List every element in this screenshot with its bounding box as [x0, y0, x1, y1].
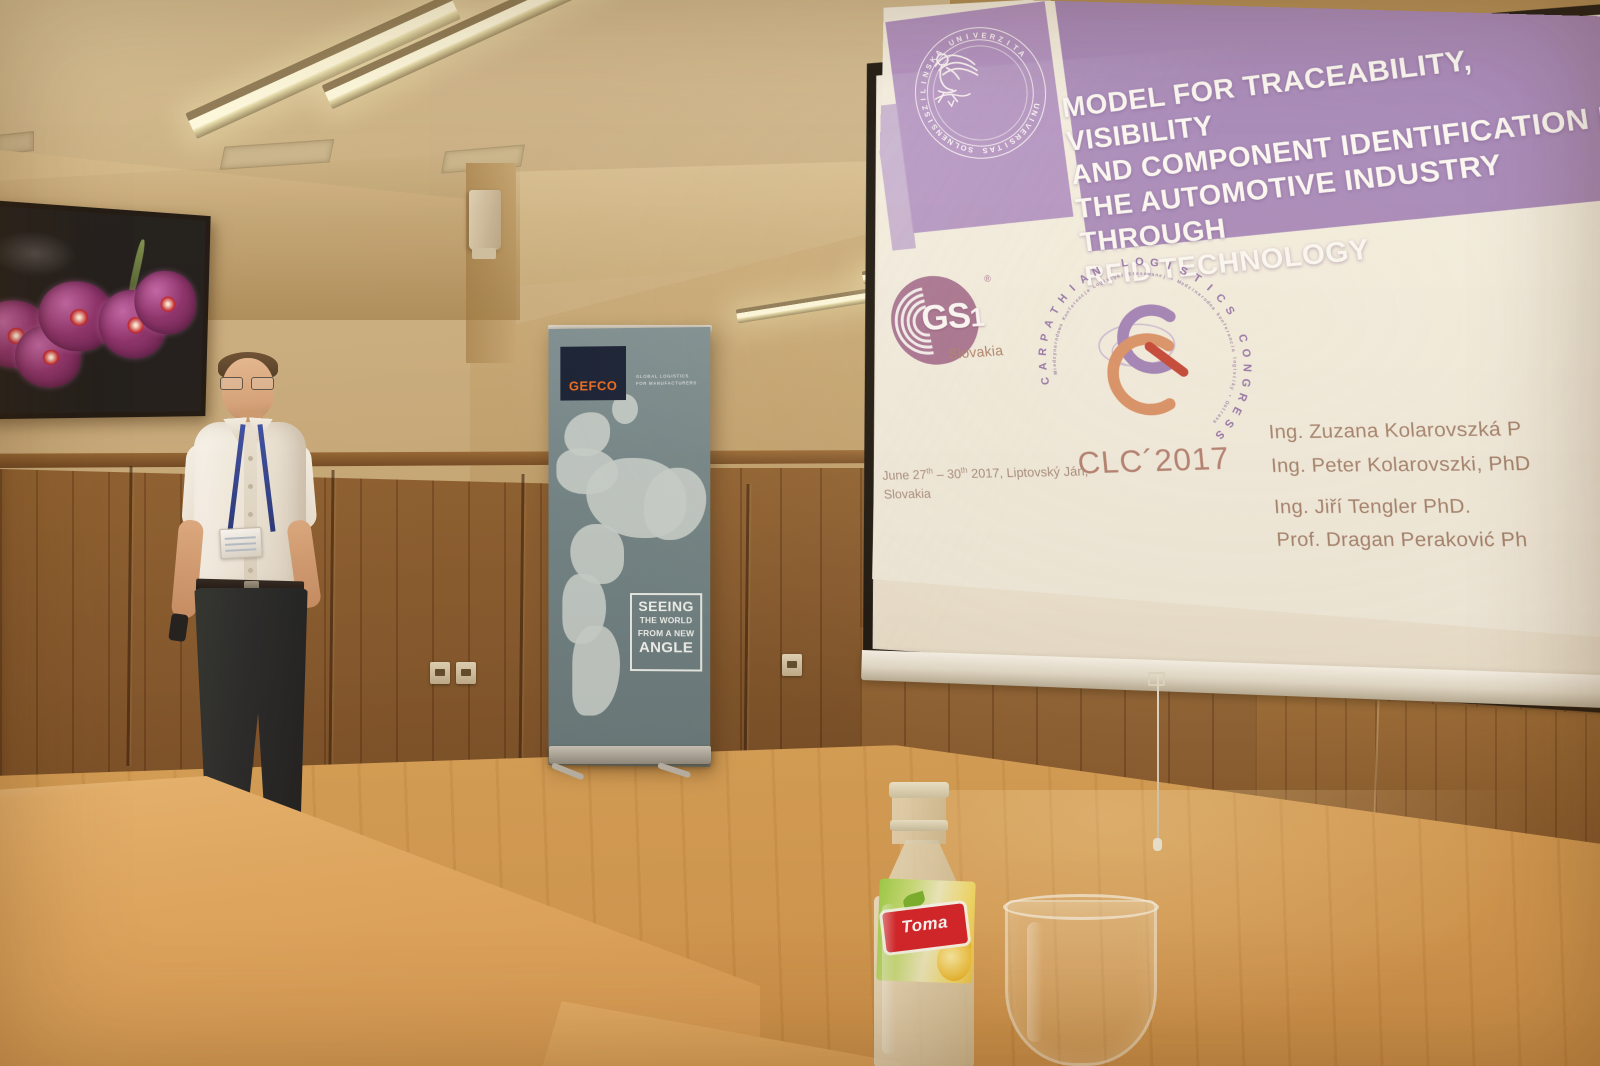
arc-char: y [1229, 386, 1235, 390]
gs1-registered-mark: ® [984, 273, 992, 284]
slogan-line-3: FROM A NEW [635, 628, 697, 639]
slogan-line-2: THE WORLD [635, 615, 697, 626]
landmass [572, 626, 620, 716]
arc-char: n [1052, 348, 1057, 352]
wall-outlet [430, 662, 450, 684]
glass-highlight [1027, 922, 1043, 1042]
gs1-logo: GS1 ® Slovakia [886, 264, 1021, 374]
glass-rim [1003, 894, 1159, 920]
clc-interlocking-c-icon [1067, 283, 1227, 426]
gefco-tagline-line2: FOR MANUFACTURERS [636, 380, 702, 387]
presenter-glasses [220, 377, 276, 390]
badge-line [225, 536, 256, 540]
arc-char: A [1017, 48, 1028, 58]
glasses-lens-right [251, 377, 274, 390]
arc-char: S [967, 145, 974, 155]
arc-char: o [1136, 271, 1140, 276]
arc-char: I [1027, 117, 1036, 123]
arc-char: i [1232, 369, 1237, 371]
conference-room-photo: ZILINSKA UNIVERZITAUNIVERSITAS SOLNENSIS… [0, 0, 1600, 1066]
orchid-lip [70, 309, 88, 326]
wine-glass [1005, 888, 1157, 1066]
landmass [562, 574, 606, 644]
arc-char: j [1163, 274, 1166, 279]
arc-char: t [1232, 376, 1238, 379]
orchid-lip [160, 296, 175, 312]
gs1-country-label: Slovakia [948, 342, 1004, 362]
arc-char: S [982, 146, 988, 155]
bottle-lip [889, 782, 949, 798]
arc-char: I [1003, 140, 1009, 149]
arc-char: I [919, 98, 928, 101]
arc-char: Z [997, 34, 1005, 44]
badge-line [225, 542, 256, 546]
arc-char: O [959, 143, 967, 153]
screen-pull-tip[interactable] [1153, 838, 1162, 851]
glasses-lens-left [220, 377, 243, 390]
slide-event-info: June 27th – 30th 2017, Liptovský Ján, Sl… [882, 460, 1149, 504]
arc-char: d [1052, 360, 1057, 363]
screen-pull-cord[interactable] [1157, 675, 1159, 840]
conference-badge [219, 527, 263, 559]
arc-char: c [1229, 341, 1235, 345]
arc-char: t [1132, 271, 1134, 276]
arc-char: s [1232, 372, 1238, 376]
gs1-wordmark: GS1 [919, 294, 985, 339]
shirt-button [248, 568, 253, 573]
arc-char: T [996, 143, 1004, 153]
arc-char: N [955, 34, 963, 44]
clc-congress-logo: CARPATHIAN LOGISTICS CONGRESS Miedzynaro… [1025, 243, 1267, 479]
arc-char: a [1231, 349, 1237, 353]
presentation-slide: ZILINSKA UNIVERZITAUNIVERSITAS SOLNENSIS… [868, 0, 1600, 665]
arc-char: I [965, 32, 969, 41]
slogan-line-1: SEEING [635, 599, 697, 613]
gefco-wordmark: GEFCO [560, 378, 626, 394]
arc-char: o [1232, 360, 1238, 363]
arc-char: k [1116, 273, 1120, 279]
author-name: Ing. Jiří Tengler PhD. [1273, 488, 1600, 524]
author-name: Ing. Peter Kolarovszki, PhD [1270, 445, 1600, 482]
arc-char: i [1121, 273, 1124, 278]
outlet-slot [435, 669, 445, 676]
arc-char: • [1227, 394, 1233, 398]
arc-char: I [1005, 38, 1012, 47]
outlet-slot [461, 669, 471, 676]
university-seal: ZILINSKA UNIVERZITAUNIVERSITAS SOLNENSIS [907, 19, 1054, 165]
arc-char: g [1232, 364, 1237, 367]
arc-char: V [973, 31, 979, 40]
arc-char: M [1052, 370, 1058, 375]
arc-char: i [1230, 345, 1236, 348]
arc-char: A [989, 145, 996, 155]
arc-char: z [1052, 356, 1057, 359]
outlet-slot [787, 661, 797, 668]
wall-outlet [456, 662, 476, 684]
presenter-lanyard [232, 424, 272, 534]
gefco-rollup-banner: GEFCO GLOBAL LOGISTICS FOR MANUFACTURERS… [548, 327, 710, 767]
arc-char: S [924, 62, 934, 71]
slogan-line-4: ANGLE [635, 640, 697, 655]
wall-outlet [782, 654, 802, 676]
author-name: Ing. Zuzana Kolarovszká P [1268, 410, 1600, 449]
bottle-neck-ring [890, 820, 948, 831]
arc-char: N [921, 70, 931, 78]
arc-char: e [1159, 273, 1163, 279]
wall-speaker [469, 190, 501, 250]
arc-char: e [1052, 364, 1057, 367]
landmass [556, 448, 618, 494]
gefco-logo-box: GEFCO [560, 346, 626, 401]
presentation-clicker [168, 613, 189, 642]
landmass [644, 468, 706, 540]
juice-bottle: Toma [862, 784, 984, 1066]
landmass [570, 524, 624, 584]
arc-char: R [989, 32, 996, 42]
arc-char: • [1170, 276, 1174, 282]
arc-char: S [922, 110, 932, 118]
bottle-highlight [882, 904, 896, 1054]
landmass [586, 458, 686, 538]
arc-char: E [981, 31, 987, 40]
gs1-numeral: 1 [968, 301, 985, 332]
badge-line [225, 548, 256, 552]
arc-char: U [947, 37, 956, 48]
slide-authors-list: Ing. Zuzana Kolarovszká P Ing. Peter Kol… [1268, 410, 1600, 558]
banner-base [549, 746, 711, 764]
presenter [160, 352, 355, 840]
orchid-lip [43, 350, 59, 365]
label-lemon-graphic [936, 940, 971, 981]
arc-char: N [1029, 109, 1040, 118]
landmass [564, 412, 610, 456]
seal-text-ring: ZILINSKA UNIVERZITAUNIVERSITAS SOLNENSIS [908, 20, 1053, 164]
gefco-tagline: GLOBAL LOGISTICS FOR MANUFACTURERS [636, 373, 702, 387]
arc-char: s [1140, 271, 1143, 276]
author-name: Prof. Dragan Peraković Ph [1275, 523, 1600, 558]
arc-char: L [918, 88, 927, 93]
arc-char: y [1052, 352, 1057, 355]
arc-char: I [919, 81, 928, 85]
gefco-slogan-box: SEEING THE WORLD FROM A NEW ANGLE [630, 593, 702, 672]
arc-char: l [1232, 357, 1238, 359]
arc-char: S [1128, 271, 1132, 277]
